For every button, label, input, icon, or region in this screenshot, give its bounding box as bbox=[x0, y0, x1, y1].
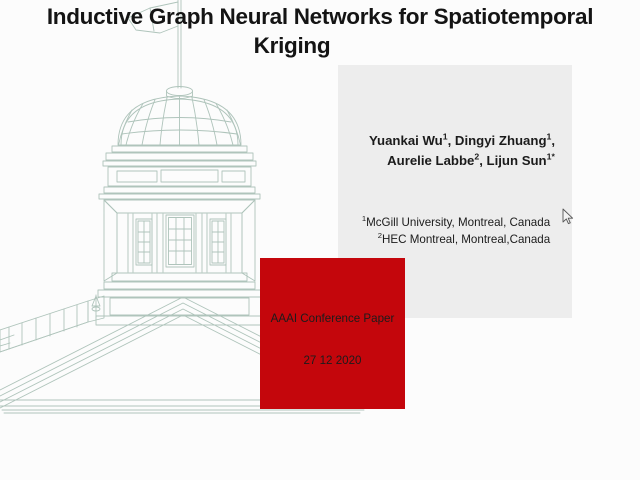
author-line-2: Aurelie Labbe2, Lijun Sun1* bbox=[338, 151, 586, 171]
author-name-aurelie-labbe: Aurelie Labbe bbox=[387, 153, 474, 168]
author-separator: , bbox=[448, 133, 455, 148]
author-name-dingyi-zhuang: Dingyi Zhuang bbox=[455, 133, 547, 148]
author-separator: , bbox=[479, 153, 486, 168]
affiliation-list: 1McGill University, Montreal, Canada 2HE… bbox=[330, 215, 582, 248]
venue-date: 27 12 2020 bbox=[260, 354, 405, 367]
title-line-2: Kriging bbox=[0, 31, 626, 60]
slide-title: Inductive Graph Neural Networks for Spat… bbox=[14, 2, 626, 60]
affiliation-line-1: 1McGill University, Montreal, Canada bbox=[330, 215, 582, 232]
affiliation-line-2: 2HEC Montreal, Montreal,Canada bbox=[330, 232, 582, 249]
author-name-lijun-sun: Lijun Sun bbox=[487, 153, 547, 168]
author-list: Yuankai Wu1, Dingyi Zhuang1, Aurelie Lab… bbox=[338, 131, 586, 170]
author-name-yuankai-wu: Yuankai Wu bbox=[369, 133, 443, 148]
presentation-slide: Inductive Graph Neural Networks for Spat… bbox=[0, 0, 640, 480]
author-line-end: , bbox=[551, 133, 555, 148]
author-affiliation-marker-corresponding: 1* bbox=[547, 151, 555, 161]
affiliation-text-hec: HEC Montreal, Montreal,Canada bbox=[382, 233, 550, 246]
venue-label: AAAI Conference Paper bbox=[260, 312, 405, 325]
affiliation-text-mcgill: McGill University, Montreal, Canada bbox=[366, 216, 550, 229]
venue-accent-box: AAAI Conference Paper 27 12 2020 bbox=[260, 258, 405, 409]
title-line-1: Inductive Graph Neural Networks for Spat… bbox=[14, 2, 626, 31]
author-line-1: Yuankai Wu1, Dingyi Zhuang1, bbox=[338, 131, 586, 151]
